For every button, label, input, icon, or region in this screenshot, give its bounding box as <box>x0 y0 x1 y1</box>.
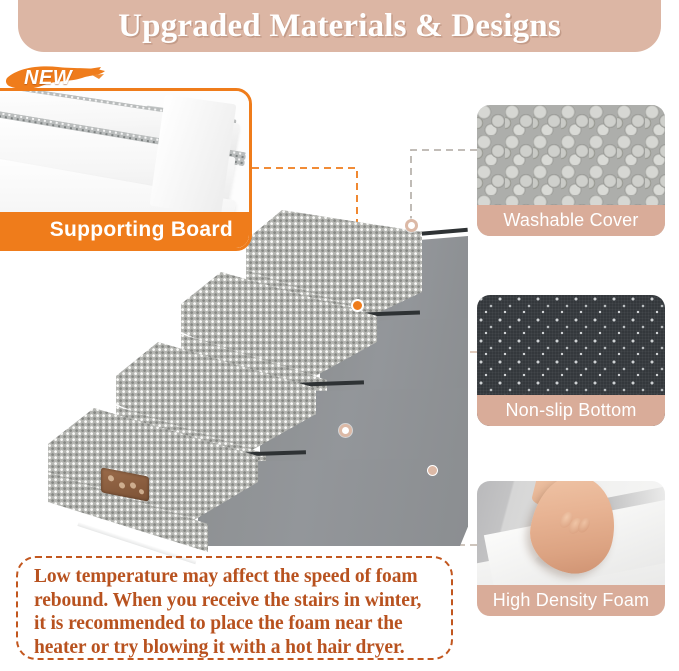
paw-print-icon <box>139 489 144 495</box>
feature-panel-high-density-foam[interactable]: High Density Foam <box>477 481 665 616</box>
callout-dot-high-density-foam[interactable] <box>339 424 352 437</box>
header-banner: Upgraded Materials & Designs <box>18 0 661 52</box>
warning-note-text: Low temperature may affect the speed of … <box>34 565 437 659</box>
high-density-foam-caption: High Density Foam <box>493 590 649 611</box>
callout-dot-washable-cover[interactable] <box>405 219 418 232</box>
panel-caption-bar: Washable Cover <box>477 205 665 236</box>
product-pet-stairs <box>48 210 468 545</box>
feature-card-label-bar: Supporting Board <box>0 212 249 248</box>
feature-panel-washable-cover[interactable]: Washable Cover <box>477 105 665 236</box>
callout-dot-supporting-board[interactable] <box>351 299 364 312</box>
panel-caption-bar: Non-slip Bottom <box>477 395 665 426</box>
callout-dot-non-slip-bottom[interactable] <box>427 465 438 476</box>
feature-panel-non-slip-bottom[interactable]: Non-slip Bottom <box>477 295 665 426</box>
paw-print-icon <box>119 482 125 489</box>
page-title: Upgraded Materials & Designs <box>118 8 561 45</box>
paw-print-icon <box>130 482 136 489</box>
panel-caption-bar: High Density Foam <box>477 585 665 616</box>
warning-note: Low temperature may affect the speed of … <box>16 556 453 660</box>
washable-cover-caption: Washable Cover <box>503 210 638 231</box>
new-badge: NEW <box>4 62 108 98</box>
supporting-board-caption: Supporting Board <box>50 218 233 242</box>
non-slip-bottom-caption: Non-slip Bottom <box>505 400 636 421</box>
feature-card-supporting-board[interactable]: Supporting Board <box>0 88 252 251</box>
supporting-board-panel <box>150 95 237 216</box>
new-badge-label: NEW <box>24 67 72 90</box>
paw-print-icon <box>108 475 114 482</box>
